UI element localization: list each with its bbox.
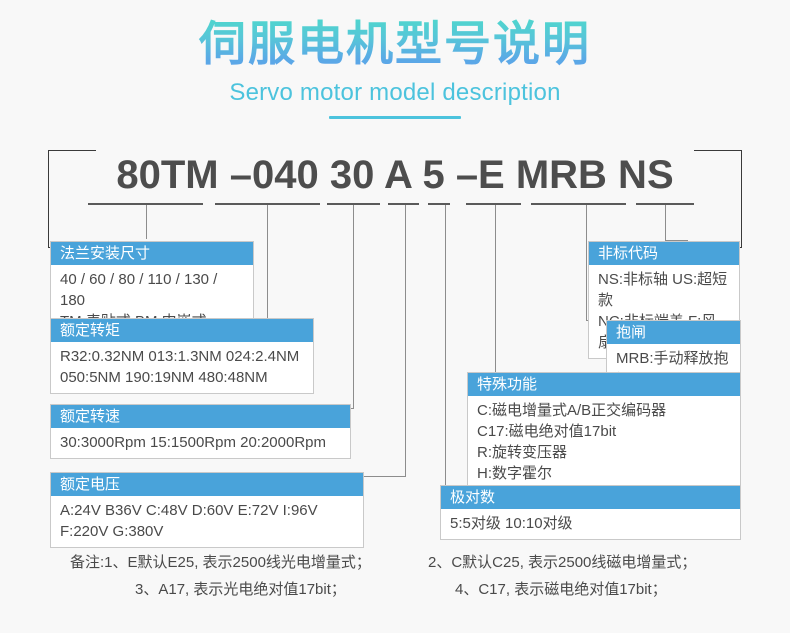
model-number-row: 80TM –040 30 A 5 –E MRB NS xyxy=(0,149,790,211)
callout-torque-title: 额定转矩 xyxy=(51,319,313,342)
model-bracket-left xyxy=(48,150,49,248)
leader-voltage-v xyxy=(405,205,406,477)
model-bracket-right-top xyxy=(694,150,742,151)
leader-special-v xyxy=(495,205,496,373)
leader-speed-v xyxy=(353,205,354,409)
callout-flange-title: 法兰安装尺寸 xyxy=(51,242,253,265)
leader-poles-v xyxy=(445,205,446,496)
footnote-2: 2、C默认C25, 表示2500线磁电增量式； xyxy=(428,549,696,576)
leader-nonstandard-v xyxy=(665,205,666,241)
callout-poles-body: 5:5对级 10:10对级 xyxy=(441,509,740,539)
callout-nonstandard-title: 非标代码 xyxy=(589,242,739,265)
title-divider xyxy=(329,116,461,119)
callout-voltage[interactable]: 额定电压 A:24V B36V C:48V D:60V E:72V I:96V … xyxy=(50,472,364,548)
footnote-4: 4、C17, 表示磁电绝对值17bit； xyxy=(455,576,667,603)
model-bracket-left-top xyxy=(48,150,96,151)
callout-special[interactable]: 特殊功能 C:磁电增量式A/B正交编码器 C17:磁电绝对值17bit R:旋转… xyxy=(467,372,741,490)
callout-voltage-body: A:24V B36V C:48V D:60V E:72V I:96V F:220… xyxy=(51,496,363,547)
model-bracket-right xyxy=(741,150,742,248)
callout-torque[interactable]: 额定转矩 R32:0.32NM 013:1.3NM 024:2.4NM 050:… xyxy=(50,318,314,394)
page-header: 伺服电机型号说明 Servo motor model description xyxy=(0,0,790,119)
callout-poles[interactable]: 极对数 5:5对级 10:10对级 xyxy=(440,485,741,540)
underline-brake xyxy=(531,203,626,205)
callout-speed[interactable]: 额定转速 30:3000Rpm 15:1500Rpm 20:2000Rpm xyxy=(50,404,351,459)
callout-speed-body: 30:3000Rpm 15:1500Rpm 20:2000Rpm xyxy=(51,428,350,458)
leader-brake-v xyxy=(586,205,587,321)
callout-poles-title: 极对数 xyxy=(441,486,740,509)
callout-special-title: 特殊功能 xyxy=(468,373,740,396)
footnote-3: 3、A17, 表示光电绝对值17bit； xyxy=(135,576,346,603)
page-title: 伺服电机型号说明 xyxy=(0,18,790,71)
callout-speed-title: 额定转速 xyxy=(51,405,350,428)
model-number-text: 80TM –040 30 A 5 –E MRB NS xyxy=(0,149,790,201)
leader-voltage-h xyxy=(358,476,406,477)
footnote-1: 备注:1、E默认E25, 表示2500线光电增量式； xyxy=(70,549,371,576)
leader-torque-v xyxy=(267,205,268,323)
leader-flange xyxy=(146,205,147,239)
callout-voltage-title: 额定电压 xyxy=(51,473,363,496)
callout-special-body: C:磁电增量式A/B正交编码器 C17:磁电绝对值17bit R:旋转变压器 H… xyxy=(468,396,740,489)
underline-voltage xyxy=(388,203,419,205)
page-subtitle: Servo motor model description xyxy=(0,79,790,107)
underline-special xyxy=(466,203,521,205)
callout-brake-title: 抱闸 xyxy=(607,321,740,344)
callout-torque-body: R32:0.32NM 013:1.3NM 024:2.4NM 050:5NM 1… xyxy=(51,342,313,393)
page-root: 伺服电机型号说明 Servo motor model description 8… xyxy=(0,0,790,633)
underline-poles xyxy=(428,203,450,205)
